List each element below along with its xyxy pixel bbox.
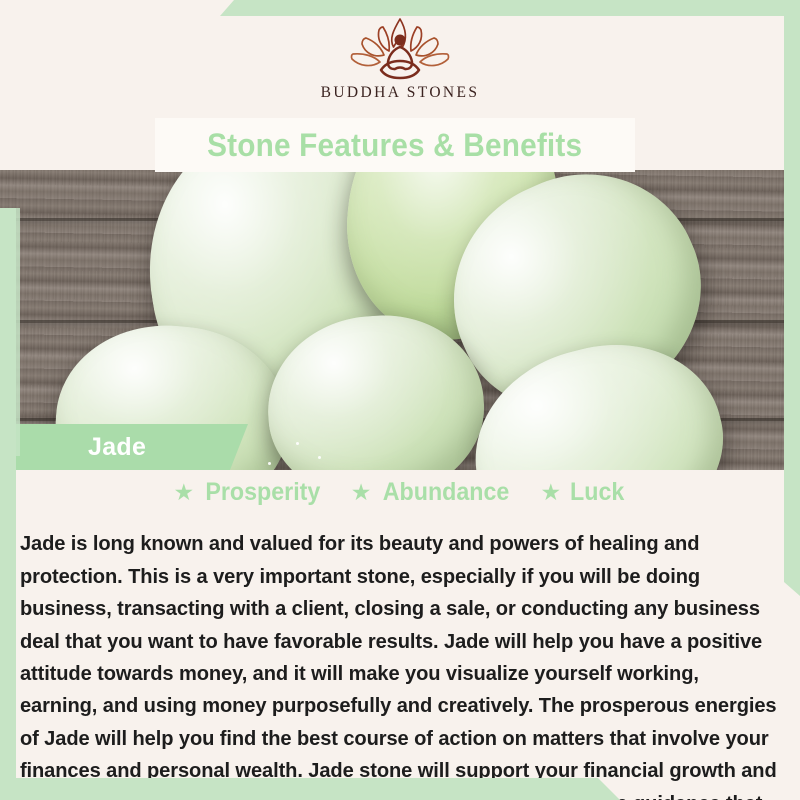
benefit-label: Prosperity bbox=[205, 478, 320, 507]
stone-speck bbox=[296, 442, 299, 445]
lotus-meditation-icon bbox=[346, 16, 454, 82]
stone-name-badge: Jade bbox=[0, 424, 248, 470]
star-icon: ★ bbox=[351, 481, 372, 504]
accent-bar-bottom bbox=[0, 778, 620, 800]
page-title: Stone Features & Benefits bbox=[207, 129, 582, 161]
brand-header: BUDDHA STONES bbox=[0, 0, 800, 118]
brand-wordmark: BUDDHA STONES bbox=[321, 84, 480, 102]
star-icon: ★ bbox=[541, 481, 562, 504]
benefit-label: Abundance bbox=[383, 478, 510, 507]
accent-bar-left bbox=[0, 208, 16, 800]
stone-speck bbox=[318, 456, 321, 459]
benefit-item-prosperity: ★ Prosperity bbox=[173, 478, 324, 507]
stone-name-label: Jade bbox=[88, 433, 146, 462]
poster: BUDDHA STONES Stone Features & Benefits … bbox=[0, 0, 800, 800]
stone-description: Jade is long known and valued for its be… bbox=[16, 528, 784, 800]
benefits-row: ★ Prosperity ★ Abundance ★ Luck bbox=[0, 478, 800, 507]
benefit-item-abundance: ★ Abundance bbox=[351, 478, 515, 507]
stone-speck bbox=[268, 462, 271, 465]
title-band: Stone Features & Benefits bbox=[155, 118, 635, 172]
benefit-label: Luck bbox=[570, 478, 624, 507]
benefit-item-luck: ★ Luck bbox=[541, 478, 627, 507]
accent-bar-left-inner bbox=[16, 208, 20, 456]
star-icon: ★ bbox=[173, 481, 194, 504]
accent-bar-right bbox=[784, 0, 800, 596]
accent-bar-top-right bbox=[220, 0, 800, 16]
